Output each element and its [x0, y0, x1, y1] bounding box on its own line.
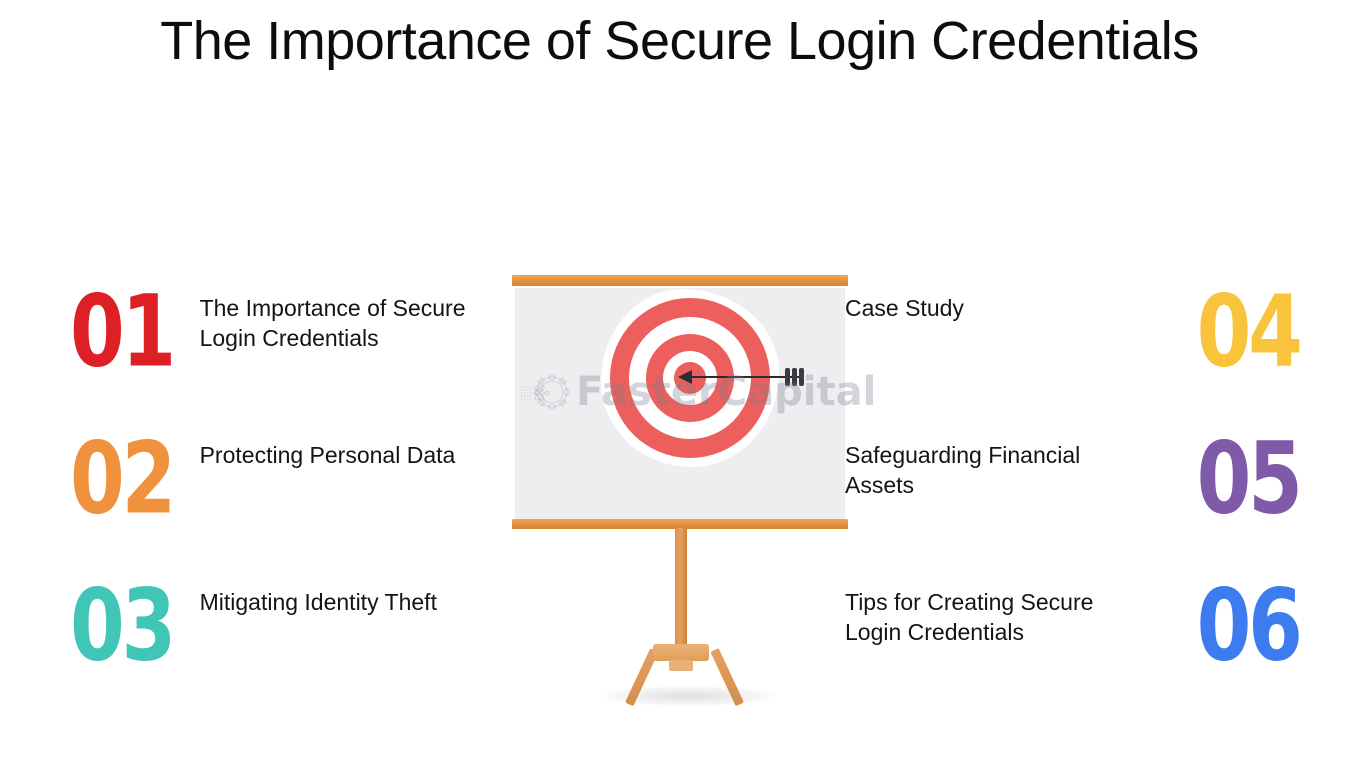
item-number-03: 03 [70, 580, 173, 671]
item-label-03: Mitigating Identity Theft [200, 580, 500, 618]
arrow-fletching-2 [792, 368, 797, 386]
list-item-06[interactable]: Tips for Creating Secure Login Credentia… [845, 580, 1300, 668]
stand-post [675, 528, 687, 649]
item-label-04: Case Study [845, 286, 1145, 324]
list-item-01[interactable]: 01 The Importance of Secure Login Creden… [70, 286, 500, 374]
item-number-01: 01 [70, 286, 173, 377]
list-item-05[interactable]: Safeguarding Financial Assets 05 [845, 433, 1300, 521]
presentation-board-illustration: FasterCapital [498, 262, 868, 702]
item-label-01: The Importance of Secure Login Credentia… [200, 286, 500, 354]
stand-foot [669, 660, 693, 671]
item-number-02: 02 [70, 433, 173, 524]
page-title: The Importance of Secure Login Credentia… [0, 10, 1359, 72]
arrow-fletching-1 [785, 368, 790, 386]
list-item-03[interactable]: 03 Mitigating Identity Theft [70, 580, 500, 668]
list-item-04[interactable]: Case Study 04 [845, 286, 1300, 374]
stand-shadow [602, 686, 774, 706]
item-number-05: 05 [1197, 433, 1300, 524]
item-label-02: Protecting Personal Data [200, 433, 500, 471]
item-number-04: 04 [1197, 286, 1300, 377]
board-top-rail [512, 275, 848, 286]
arrow-head-icon [678, 370, 692, 384]
item-label-05: Safeguarding Financial Assets [845, 433, 1145, 501]
list-item-02[interactable]: 02 Protecting Personal Data [70, 433, 500, 521]
stand-hub [653, 644, 709, 661]
item-label-06: Tips for Creating Secure Login Credentia… [845, 580, 1145, 648]
infographic-slide: The Importance of Secure Login Credentia… [0, 0, 1359, 759]
item-number-06: 06 [1197, 580, 1300, 671]
arrow-fletching-3 [799, 368, 804, 386]
